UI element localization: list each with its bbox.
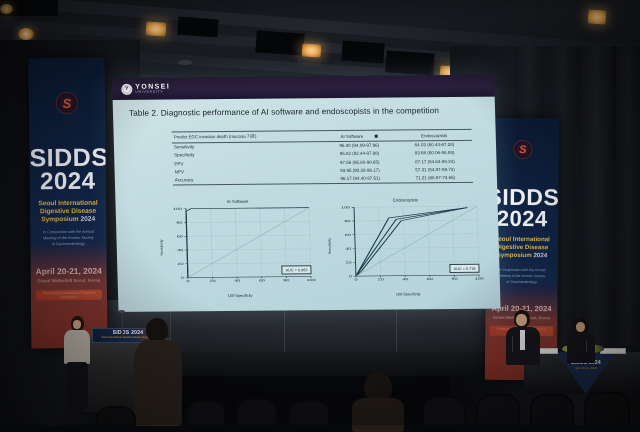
banner-conjunction-2: Meeting of the Korean Society (30, 236, 106, 241)
roc-charts: AI Software 020406080100020406080100 Sen… (161, 197, 484, 300)
ceiling-light (302, 43, 322, 57)
svg-text:40: 40 (345, 247, 352, 250)
audience-body (134, 340, 182, 426)
banner-subtitle-year: 2024 (533, 252, 547, 259)
svg-text:100: 100 (173, 207, 183, 211)
chair (236, 398, 278, 425)
audience-member-foreground (134, 318, 182, 426)
svg-text:20: 20 (378, 278, 385, 281)
panelist-face (576, 322, 585, 332)
svg-text:80: 80 (451, 277, 458, 280)
metric-value-endo: 71.21 (68.67-73.65) (398, 173, 473, 182)
panelist-shirt (520, 330, 525, 350)
svg-text:60: 60 (259, 279, 266, 282)
ceiling-light (146, 21, 167, 36)
yonsei-seal-icon: Y (121, 83, 132, 94)
roc-chart-endo-auc: AUC = 0.718 (449, 264, 479, 273)
chair (288, 400, 330, 425)
presenter-at-podium (62, 316, 92, 412)
yonsei-logo-secondary: UNIVERSITY (135, 90, 170, 94)
ceiling-light (588, 9, 607, 24)
performance-table: Predict EGC invasion depth (mucosa 기준) A… (172, 129, 474, 185)
table-banner-subtitle: April 20-21, 2024 (556, 367, 616, 370)
roc-chart-endo-ylabel: Sensitivity (328, 238, 332, 254)
svg-text:40: 40 (234, 279, 241, 282)
banner-subtitle-3-text: Symposium (497, 252, 532, 259)
audience-body (352, 398, 404, 432)
svg-text:40: 40 (177, 248, 184, 251)
presenter-lower-body (66, 362, 88, 410)
chair (530, 394, 574, 425)
banner-conjunction-1: In Conjunction with the Annual (30, 230, 106, 235)
sidds-logo-icon: S (56, 92, 78, 114)
banner-subtitle-3-text: Symposium (41, 216, 78, 223)
chair (584, 392, 630, 425)
banner-year: 2024 (30, 170, 106, 195)
sidds-logo-icon: S (513, 140, 532, 159)
panelist-right (566, 318, 596, 360)
panelist-face (516, 314, 527, 326)
svg-text:60: 60 (427, 277, 434, 280)
presenter-face (73, 320, 81, 329)
svg-text:40: 40 (402, 277, 409, 280)
svg-text:100: 100 (341, 206, 351, 210)
chair (186, 400, 226, 425)
roc-chart-ai-plot: 020406080100020406080100 Sensitivity AUC… (162, 204, 316, 289)
svg-text:20: 20 (345, 261, 352, 264)
table-row: Accuracy 96.17 (94.40-97.51) 71.21 (68.6… (173, 173, 473, 184)
lecture-hall-scene: S SIDDS 2024 Seoul International Digesti… (0, 0, 640, 425)
microphone-head-icon (118, 310, 125, 313)
chair (422, 396, 466, 425)
svg-text:0: 0 (181, 276, 185, 279)
svg-text:80: 80 (176, 221, 183, 224)
metric-value-ai: 96.17 (94.40-97.51) (323, 174, 398, 183)
roc-chart-ai-xlabel: 100-Specificity (164, 293, 316, 298)
svg-text:0: 0 (354, 278, 358, 281)
ceiling-downlight (0, 4, 13, 14)
slide-title: Table 2. Diagnostic performance of AI so… (129, 106, 439, 118)
svg-text:100: 100 (475, 277, 484, 281)
roc-chart-endo-plot: 020406080100020406080100 Sensitivity AUC… (330, 203, 484, 288)
presenter-body (64, 330, 90, 364)
panelist-body (567, 333, 595, 363)
ceiling-downlight (18, 28, 34, 40)
roc-chart-endoscopists: Endoscopists 020406080100020406080100 Se… (329, 197, 484, 298)
svg-text:0: 0 (186, 279, 190, 282)
slide-content: Table 2. Diagnostic performance of AI so… (113, 97, 501, 312)
roc-chart-ai-ylabel: Sensitivity (160, 239, 164, 255)
yonsei-seal-letter: Y (125, 86, 129, 92)
microphone-icon (512, 336, 513, 352)
svg-text:80: 80 (344, 219, 351, 222)
audience-head (146, 318, 168, 342)
performance-table-body: Sensitivity 96.38 (94.09-97.96) 64.03 (6… (172, 140, 473, 185)
svg-text:80: 80 (283, 278, 290, 281)
banner-left: S SIDDS 2024 Seoul International Digesti… (28, 58, 107, 349)
microphone-icon (122, 312, 123, 338)
roc-chart-endo-xlabel: 100-Specificity (332, 292, 484, 297)
ceiling-vent-icon (178, 60, 192, 65)
svg-text:60: 60 (345, 233, 352, 236)
chair (476, 394, 520, 425)
banner-subtitle-year: 2024 (80, 216, 95, 223)
metric-label: Accuracy (173, 174, 323, 184)
microphone-icon (586, 340, 587, 352)
sidds-logo-letter: S (63, 95, 72, 110)
projection-screen: Y YONSEI UNIVERSITY Table 2. Diagnostic … (112, 75, 501, 312)
chair (96, 406, 136, 425)
name-card (600, 348, 626, 354)
roc-chart-ai-auc: AUC = 0.963 (281, 265, 311, 274)
sidds-logo-letter: S (519, 143, 526, 155)
yonsei-university-logo: Y YONSEI UNIVERSITY (121, 83, 170, 94)
banner-subtitle-3: Symposium 2024 (30, 216, 106, 225)
svg-text:60: 60 (177, 235, 184, 238)
svg-text:0: 0 (349, 274, 353, 277)
roc-chart-ai: AI Software 020406080100020406080100 Sen… (161, 198, 316, 299)
svg-text:100: 100 (307, 278, 316, 282)
audience-member-right (352, 372, 404, 428)
svg-text:20: 20 (177, 262, 184, 265)
cursor-marker-icon (374, 135, 377, 138)
svg-text:20: 20 (210, 279, 217, 282)
